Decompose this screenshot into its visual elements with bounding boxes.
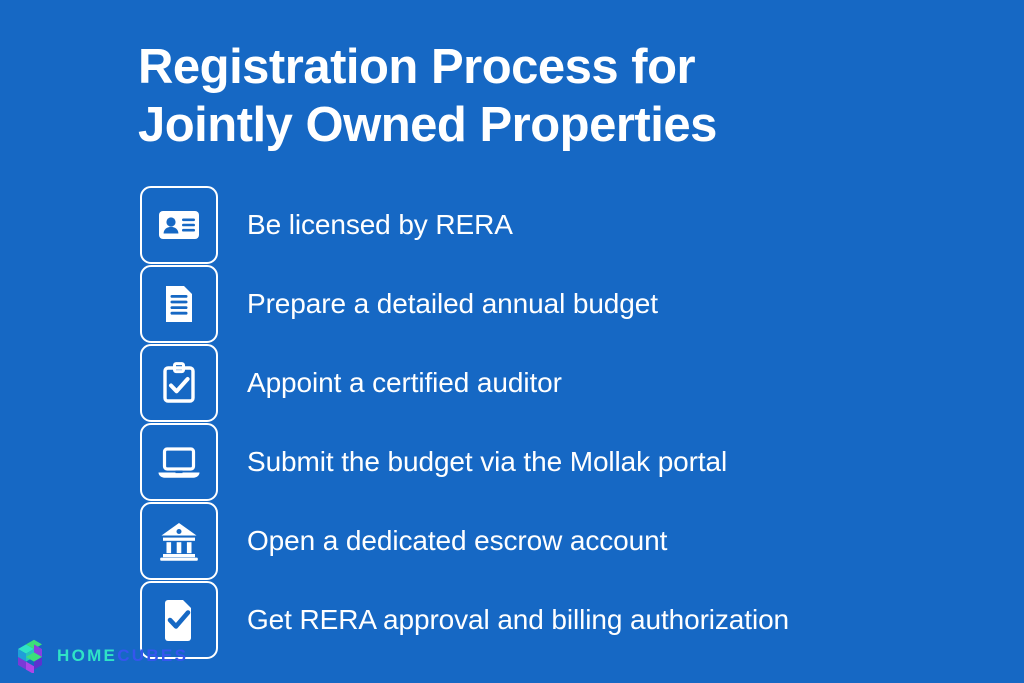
homecubes-logo[interactable]: HOMECUBES (13, 637, 188, 675)
isometric-cube-logo-mark (13, 639, 49, 673)
document-lines-icon (156, 281, 202, 327)
id-card-icon-box (140, 186, 218, 264)
page-title: Registration Process for Jointly Owned P… (138, 38, 938, 154)
bank-building-icon-box (140, 502, 218, 580)
laptop-icon-box (140, 423, 218, 501)
title-line-2: Jointly Owned Properties (138, 96, 938, 154)
clipboard-check-icon (156, 360, 202, 406)
list-item: Submit the budget via the Mollak portal (140, 423, 1010, 502)
list-item: Prepare a detailed annual budget (140, 265, 1010, 344)
logo-word-home: HOME (57, 646, 117, 666)
list-item: Open a dedicated escrow account (140, 502, 1010, 581)
infographic-canvas: Registration Process for Jointly Owned P… (0, 0, 1024, 683)
logo-wordmark: HOMECUBES (57, 646, 188, 666)
list-item-label: Prepare a detailed annual budget (247, 265, 658, 343)
list-item-label: Appoint a certified auditor (247, 344, 562, 422)
laptop-icon (155, 439, 203, 485)
list-item: Get RERA approval and billing authorizat… (140, 581, 1010, 660)
list-item-label: Submit the budget via the Mollak portal (247, 423, 727, 501)
id-card-icon (156, 202, 202, 248)
clipboard-check-icon-box (140, 344, 218, 422)
list-item: Appoint a certified auditor (140, 344, 1010, 423)
list-item: Be licensed by RERA (140, 186, 1010, 265)
list-item-label: Be licensed by RERA (247, 186, 513, 264)
title-line-1: Registration Process for (138, 38, 938, 96)
steps-list: Be licensed by RERA Prepare a detailed a… (140, 186, 1010, 660)
bank-building-icon (156, 518, 202, 564)
document-lines-icon-box (140, 265, 218, 343)
list-item-label: Open a dedicated escrow account (247, 502, 667, 580)
logo-word-cubes: CUBES (117, 646, 188, 666)
list-item-label: Get RERA approval and billing authorizat… (247, 581, 789, 659)
